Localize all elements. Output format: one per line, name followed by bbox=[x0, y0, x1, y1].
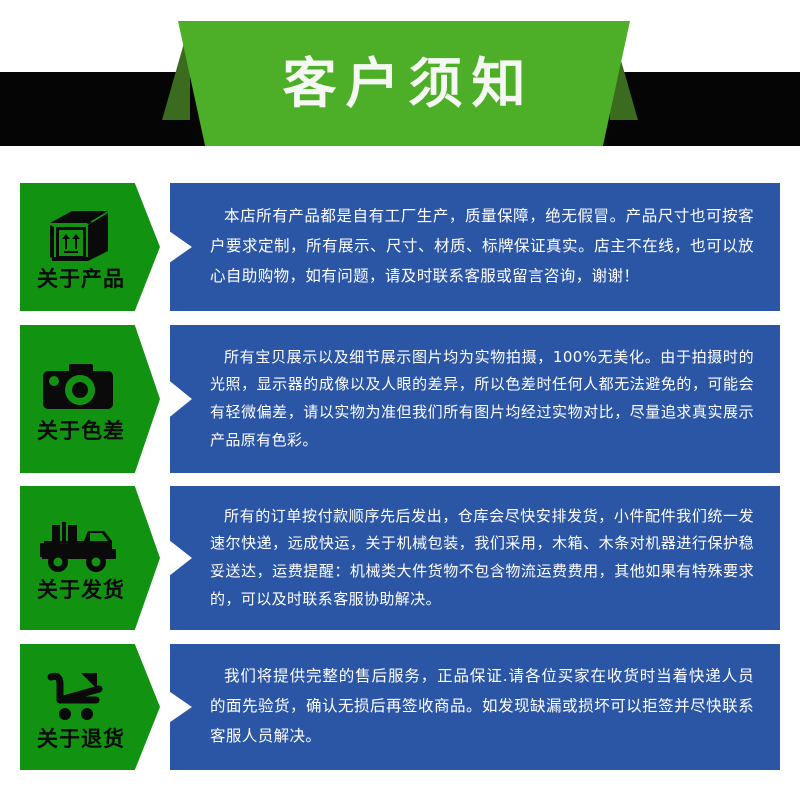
header-banner: 客户须知 bbox=[0, 0, 800, 170]
badge-label-returns: 关于退货 bbox=[22, 728, 140, 751]
page-title: 客户须知 bbox=[274, 57, 535, 111]
camera-icon bbox=[24, 359, 134, 417]
truck-icon bbox=[24, 518, 134, 576]
notice-section-returns: 关于退货 我们将提供完整的售后服务，正品保证.请各位买家在收货时当着快递人员的面… bbox=[0, 644, 800, 770]
badge-returns[interactable]: 关于退货 bbox=[20, 644, 160, 770]
panel-color: 所有宝贝展示以及细节展示图片均为实物拍摄，100%无美化。由于拍摄时的光照，显示… bbox=[170, 325, 780, 473]
badge-color[interactable]: 关于色差 bbox=[20, 325, 160, 473]
panel-text-color: 所有宝贝展示以及细节展示图片均为实物拍摄，100%无美化。由于拍摄时的光照，显示… bbox=[170, 332, 780, 467]
panel-text-product: 本店所有产品都是自有工厂生产，质量保障，绝无假冒。产品尺寸也可按客户要求定制，所… bbox=[170, 190, 780, 303]
badge-label-product: 关于产品 bbox=[22, 268, 140, 291]
return-cart-icon bbox=[24, 667, 134, 725]
badge-shipping[interactable]: 关于发货 bbox=[20, 486, 160, 630]
panel-shipping: 所有的订单按付款顺序先后发出，仓库会尽快安排发货，小件配件我们统一发速尔快递，远… bbox=[170, 486, 780, 630]
badge-label-shipping: 关于发货 bbox=[22, 579, 140, 602]
panel-text-shipping: 所有的订单按付款顺序先后发出，仓库会尽快安排发货，小件配件我们统一发速尔快递，远… bbox=[170, 491, 780, 626]
panel-returns: 我们将提供完整的售后服务，正品保证.请各位买家在收货时当着快递人员的面先验货，确… bbox=[170, 644, 780, 770]
panel-product: 本店所有产品都是自有工厂生产，质量保障，绝无假冒。产品尺寸也可按客户要求定制，所… bbox=[170, 183, 780, 311]
banner-ribbon: 客户须知 bbox=[178, 21, 630, 146]
badge-label-color: 关于色差 bbox=[22, 420, 140, 443]
notice-section-shipping: 关于发货 所有的订单按付款顺序先后发出，仓库会尽快安排发货，小件配件我们统一发速… bbox=[0, 486, 800, 630]
notice-sections: 关于产品 本店所有产品都是自有工厂生产，质量保障，绝无假冒。产品尺寸也可按客户要… bbox=[0, 183, 800, 770]
notice-section-product: 关于产品 本店所有产品都是自有工厂生产，质量保障，绝无假冒。产品尺寸也可按客户要… bbox=[0, 183, 800, 311]
panel-text-returns: 我们将提供完整的售后服务，正品保证.请各位买家在收货时当着快递人员的面先验货，确… bbox=[170, 650, 780, 763]
badge-product[interactable]: 关于产品 bbox=[20, 183, 160, 311]
notice-section-color: 关于色差 所有宝贝展示以及细节展示图片均为实物拍摄，100%无美化。由于拍摄时的… bbox=[0, 325, 800, 473]
package-box-icon bbox=[24, 207, 134, 265]
